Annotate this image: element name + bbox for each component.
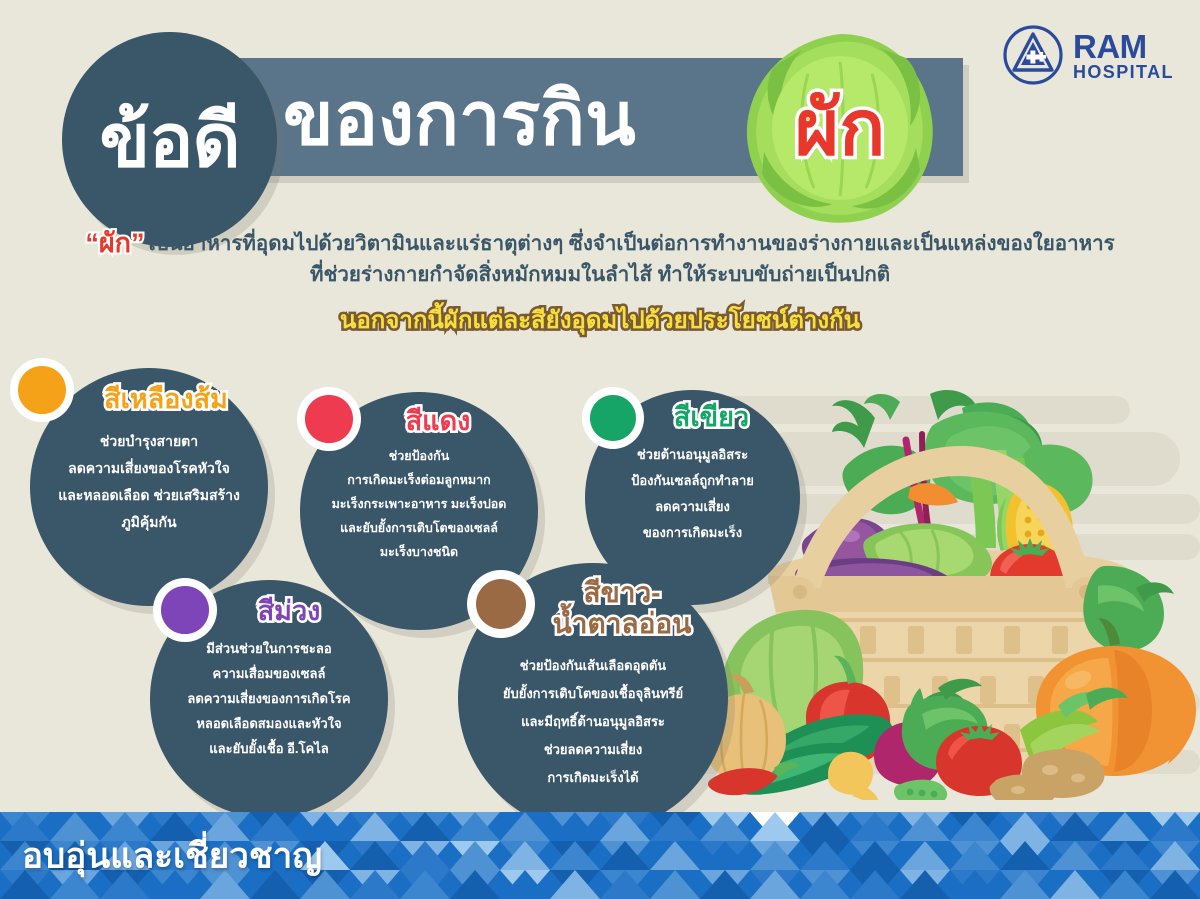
card-body-red: ช่วยป้องกัน การเกิดมะเร็งต่อมลูกหมาก มะเ… bbox=[332, 444, 507, 564]
card-line: ป้องกันเซลล์ถูกทำลาย bbox=[631, 468, 754, 494]
card-line: ของการเกิดมะเร็ง bbox=[631, 520, 754, 546]
card-title-green: สีเขียว bbox=[674, 402, 749, 432]
ram-hospital-mark-icon bbox=[1002, 24, 1064, 86]
intro-line-2: ที่ช่วยร่างกายกำจัดสิ่งหมักหมมในลำไส้ ทำ… bbox=[0, 259, 1200, 290]
ram-hospital-logo: RAM HOSPITAL bbox=[1002, 24, 1174, 86]
swatch-dot-green bbox=[590, 395, 636, 441]
card-line: ความเสื่อมของเซลล์ bbox=[187, 661, 350, 686]
title-word-two: ของการกิน bbox=[283, 62, 636, 174]
title-word-three: ผัก bbox=[742, 68, 938, 188]
card-line: ช่วยป้องกันเส้นเลือดอุดตัน bbox=[503, 652, 683, 680]
card-title-purple: สีม่วง bbox=[258, 596, 321, 626]
card-line: และหลอดเลือด ช่วยเสริมสร้าง bbox=[58, 482, 240, 509]
intro-line-1: “ผัก”เป็นอาหารที่อุดมไปด้วยวิตามินและแร่… bbox=[0, 228, 1200, 259]
swatch-ring-green bbox=[582, 387, 644, 449]
card-line: และมีฤทธิ์ต้านอนุมูลอิสระ bbox=[503, 708, 683, 736]
card-line: ลดความเสี่ยง bbox=[631, 494, 754, 520]
card-line: การเกิดมะเร็งได้ bbox=[503, 764, 683, 792]
card-body-white-light-brown: ช่วยป้องกันเส้นเลือดอุดตัน ยับยั้งการเติ… bbox=[503, 652, 683, 792]
card-line: ช่วยบำรุงสายตา bbox=[58, 428, 240, 455]
infographic-poster: ข้อดี ของการกิน ผัก RAM HOSPITAL “ผัก”เป… bbox=[0, 0, 1200, 899]
intro-quoted-word: “ผัก” bbox=[85, 228, 144, 258]
bottom-banner: อบอุ่นและเชี่ยวชาญ bbox=[0, 812, 1200, 899]
card-title-white-light-brown: สีขาว- น้ำตาลอ่อน bbox=[553, 577, 692, 640]
card-line: ยับยั้งการเติบโตของเชื้อจุลินทรีย์ bbox=[503, 680, 683, 708]
card-title-line-1: สีขาว- bbox=[553, 577, 692, 608]
card-line: ลดความเสี่ยงของโรคหัวใจ bbox=[58, 455, 240, 482]
card-line: มะเร็งบางชนิด bbox=[332, 540, 507, 564]
swatch-ring-red bbox=[297, 387, 361, 451]
logo-sub-text: HOSPITAL bbox=[1073, 63, 1174, 81]
card-line: และยับยั้งการเติบโตของเซลล์ bbox=[332, 516, 507, 540]
card-line: ช่วยต้านอนุมูลอิสระ bbox=[631, 442, 754, 468]
card-line: ภูมิคุ้มกัน bbox=[58, 509, 240, 536]
swatch-dot-red bbox=[305, 395, 352, 442]
swatch-dot-yellow-orange bbox=[18, 366, 65, 413]
card-line: มะเร็งกระเพาะอาหาร มะเร็งปอด bbox=[332, 492, 507, 516]
intro-paragraph: “ผัก”เป็นอาหารที่อุดมไปด้วยวิตามินและแร่… bbox=[0, 228, 1200, 339]
card-title-yellow-orange: สีเหลืองส้ม bbox=[104, 384, 228, 414]
card-line: และยับยั้งเชื้อ อี.โคไล bbox=[187, 736, 350, 761]
swatch-ring-white-light-brown bbox=[467, 570, 535, 638]
swatch-dot-white-light-brown bbox=[476, 579, 526, 629]
swatch-ring-purple bbox=[153, 578, 217, 642]
swatch-ring-yellow-orange bbox=[10, 358, 74, 422]
card-body-yellow-orange: ช่วยบำรุงสายตา ลดความเสี่ยงของโรคหัวใจ แ… bbox=[58, 428, 240, 536]
intro-line-1-text: เป็นอาหารที่อุดมไปด้วยวิตามินและแร่ธาตุต… bbox=[148, 232, 1114, 255]
card-line: ลดความเสี่ยงของการเกิดโรค bbox=[187, 686, 350, 711]
intro-highlight-text: นอกจากนี้ผักแต่ละสียังอุดมไปด้วยประโยชน์… bbox=[0, 300, 1200, 339]
card-title-line-2: น้ำตาลอ่อน bbox=[553, 608, 692, 639]
card-line: ช่วยป้องกัน bbox=[332, 444, 507, 468]
swatch-dot-purple bbox=[161, 586, 208, 633]
card-body-purple: มีส่วนช่วยในการชะลอ ความเสื่อมของเซลล์ ล… bbox=[187, 636, 350, 761]
banner-slogan: อบอุ่นและเชี่ยวชาญ bbox=[22, 828, 322, 883]
card-line: การเกิดมะเร็งต่อมลูกหมาก bbox=[332, 468, 507, 492]
card-line: ช่วยลดความเสี่ยง bbox=[503, 736, 683, 764]
card-title-red: สีแดง bbox=[406, 406, 471, 436]
card-line: มีส่วนช่วยในการชะลอ bbox=[187, 636, 350, 661]
title-word-one: ข้อดี bbox=[62, 32, 277, 247]
card-line: หลอดเลือดสมองและหัวใจ bbox=[187, 711, 350, 736]
logo-name-text: RAM bbox=[1073, 30, 1174, 63]
card-body-green: ช่วยต้านอนุมูลอิสระ ป้องกันเซลล์ถูกทำลาย… bbox=[631, 442, 754, 546]
